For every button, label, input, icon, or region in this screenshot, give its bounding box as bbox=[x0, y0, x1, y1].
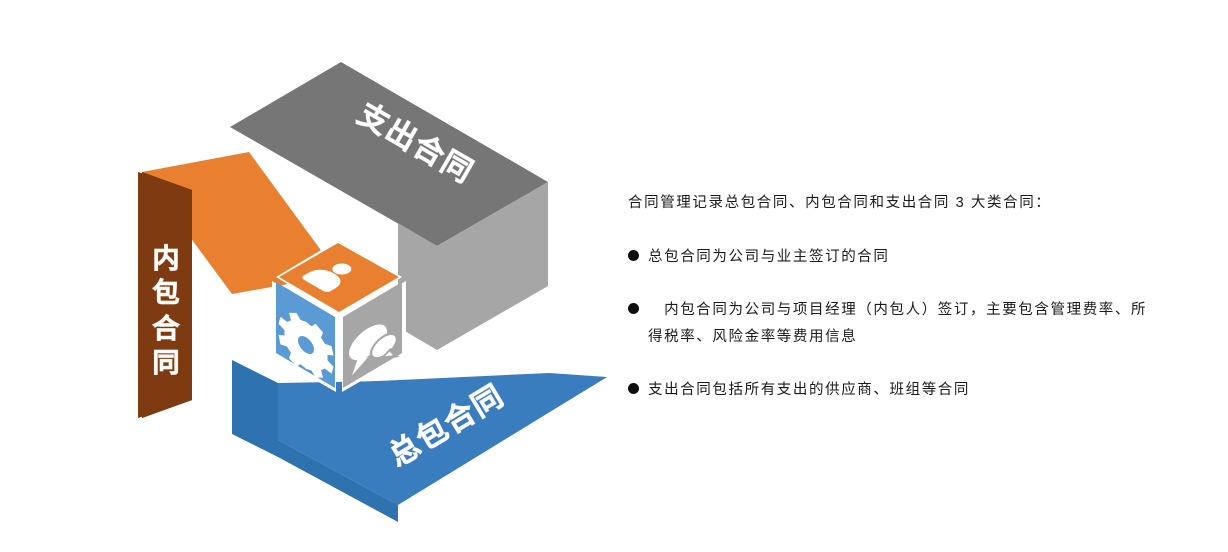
bullet-item-general-contract: 总包合同为公司与业主签订的合同 bbox=[628, 244, 1168, 271]
bullet-item-inner-contract: 内包合同为公司与项目经理（内包人）签订，主要包含管理费率、所得税率、风险金率等费… bbox=[628, 297, 1168, 351]
bullet-dot-icon bbox=[628, 303, 639, 314]
arm-inner-label-char-4: 同 bbox=[153, 348, 180, 378]
description-heading: 合同管理记录总包合同、内包合同和支出合同 3 大类合同： bbox=[628, 190, 1168, 216]
bullet-dot-icon bbox=[628, 383, 639, 394]
isometric-contract-diagram: 支出合同 内 包 合 同 bbox=[0, 0, 640, 552]
bullet-text-expense-contract: 支出合同包括所有支出的供应商、班组等合同 bbox=[648, 377, 970, 404]
arm-inner-label-char-1: 内 bbox=[153, 244, 180, 274]
arm-general-left-face bbox=[232, 360, 278, 457]
arm-general-contract[interactable]: 总包合同 bbox=[232, 360, 607, 522]
description-panel: 合同管理记录总包合同、内包合同和支出合同 3 大类合同： 总包合同为公司与业主签… bbox=[628, 190, 1168, 404]
bullet-dot-icon bbox=[628, 250, 639, 261]
bullet-text-general-contract: 总包合同为公司与业主签订的合同 bbox=[648, 244, 890, 271]
arm-inner-label-char-2: 包 bbox=[153, 277, 180, 308]
diagram-canvas: 支出合同 内 包 合 同 bbox=[0, 0, 1228, 552]
arm-inner-label-char-3: 合 bbox=[153, 313, 180, 344]
bullet-text-inner-contract: 内包合同为公司与项目经理（内包人）签订，主要包含管理费率、所得税率、风险金率等费… bbox=[648, 297, 1156, 351]
bullet-item-expense-contract: 支出合同包括所有支出的供应商、班组等合同 bbox=[628, 377, 1168, 404]
